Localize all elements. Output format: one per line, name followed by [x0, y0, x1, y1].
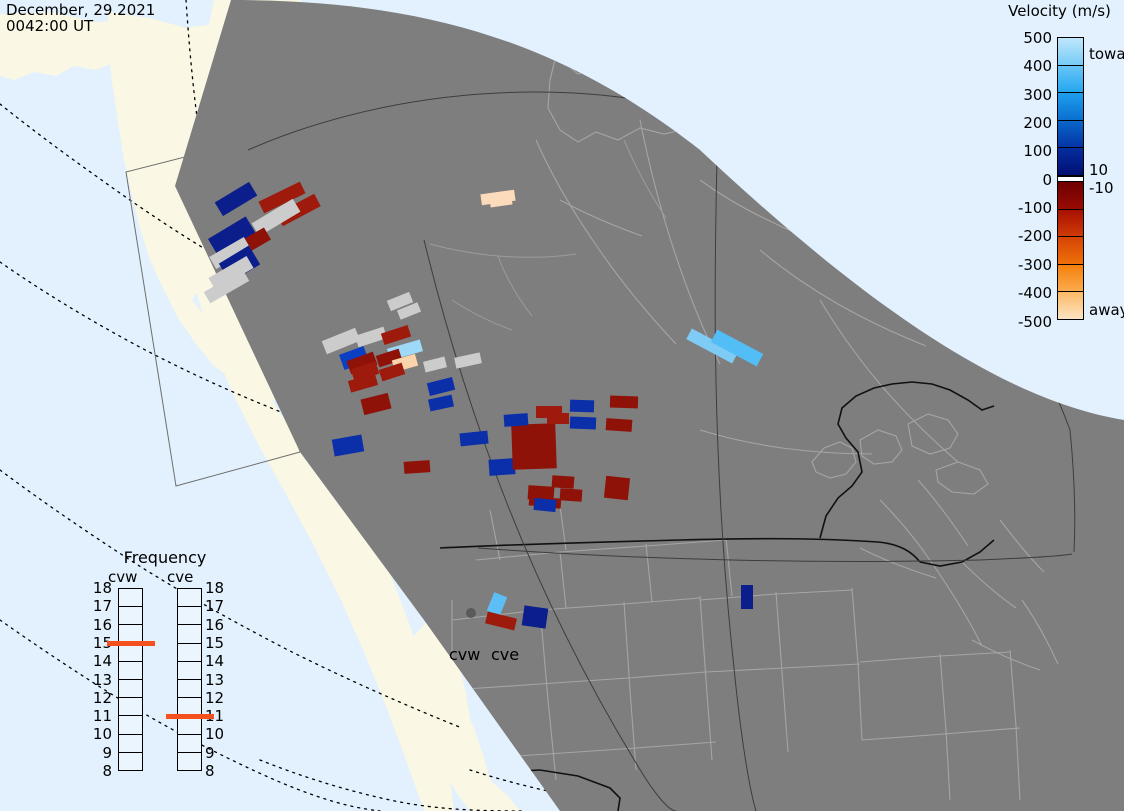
frequency-cell [119, 716, 142, 734]
frequency-tick-cvw-12: 12 [90, 691, 112, 705]
frequency-tick-cve-17: 17 [205, 599, 227, 613]
frequency-cell [178, 625, 201, 643]
colorbar-toward-label: toward [1089, 47, 1124, 62]
colorbar-inner-high-label: 10 [1089, 163, 1108, 178]
velocity-cell [570, 400, 594, 413]
colorbar-tick-200: 200 [1000, 116, 1052, 131]
timestamp-time: 0042:00 UT [6, 17, 93, 35]
colorbar-away-label: away [1089, 303, 1124, 318]
frequency-cell [178, 607, 201, 625]
frequency-marker-cve [166, 714, 214, 719]
velocity-cell [560, 488, 583, 502]
colorbar-tick-0: 0 [1000, 173, 1052, 188]
colorbar-segment-0 [1058, 38, 1083, 66]
velocity-cell [547, 413, 569, 424]
colorbar-tick-400: 400 [1000, 59, 1052, 74]
colorbar-segment-4 [1058, 148, 1083, 176]
colorbar-tick-300: 300 [1000, 88, 1052, 103]
velocity-cell [533, 498, 556, 512]
frequency-tick-cve-9: 9 [205, 746, 227, 760]
colorbar-tick-neg200: -200 [1000, 229, 1052, 244]
frequency-tick-cvw-11: 11 [90, 709, 112, 723]
frequency-tick-cve-18: 18 [205, 581, 227, 595]
frequency-legend-title: Frequency [85, 548, 245, 567]
colorbar-tick-neg300: -300 [1000, 258, 1052, 273]
frequency-scale-box-cvw[interactable] [118, 588, 143, 771]
frequency-tick-cve-15: 15 [205, 636, 227, 650]
radar-velocity-map-page: December, 29.20210042:00 UT Velocity (m/… [0, 0, 1124, 811]
colorbar-tick-neg100: -100 [1000, 201, 1052, 216]
frequency-tick-cve-16: 16 [205, 618, 227, 632]
colorbar-tick-neg400: -400 [1000, 286, 1052, 301]
frequency-tick-cvw-18: 18 [90, 581, 112, 595]
frequency-tick-cvw-14: 14 [90, 654, 112, 668]
frequency-tick-cve-12: 12 [205, 691, 227, 705]
velocity-cell [504, 413, 529, 427]
frequency-marker-cvw [107, 641, 155, 646]
frequency-tick-cvw-8: 8 [90, 764, 112, 778]
radar-site-label-cve: cve [491, 645, 519, 664]
colorbar-segment-2 [1058, 93, 1083, 121]
frequency-cell [119, 753, 142, 770]
frequency-cell [119, 644, 142, 662]
frequency-column-name-cvw: cvw [108, 568, 137, 586]
frequency-cell [178, 589, 201, 607]
frequency-column-name-cve: cve [167, 568, 193, 586]
frequency-tick-cvw-16: 16 [90, 618, 112, 632]
velocity-cell [522, 605, 549, 628]
velocity-cell [606, 418, 633, 432]
frequency-cell [178, 662, 201, 680]
colorbar-segment-9 [1058, 292, 1083, 319]
frequency-tick-cvw-13: 13 [90, 673, 112, 687]
frequency-tick-cve-14: 14 [205, 654, 227, 668]
frequency-tick-cvw-17: 17 [90, 599, 112, 613]
colorbar-tick-100: 100 [1000, 144, 1052, 159]
frequency-cell [178, 716, 201, 734]
colorbar-tick-500: 500 [1000, 31, 1052, 46]
velocity-cell [488, 458, 515, 476]
timestamp-block: December, 29.20210042:00 UT [6, 2, 155, 34]
frequency-cell [178, 735, 201, 753]
colorbar-gradient-strip [1057, 37, 1084, 320]
frequency-cell [119, 680, 142, 698]
frequency-cell [178, 644, 201, 662]
frequency-cell [119, 735, 142, 753]
colorbar-segment-3 [1058, 121, 1083, 149]
radar-site-marker [466, 608, 476, 618]
colorbar-segment-8 [1058, 265, 1083, 293]
frequency-cell [119, 589, 142, 607]
frequency-cell [178, 680, 201, 698]
frequency-cell [119, 698, 142, 716]
velocity-cell [610, 396, 638, 409]
velocity-cell [604, 476, 630, 500]
frequency-cell [178, 753, 201, 770]
colorbar-segment-5 [1058, 182, 1083, 210]
radar-site-label-cvw: cvw [449, 645, 480, 664]
velocity-cell [570, 417, 596, 430]
colorbar-title: Velocity (m/s) [995, 2, 1124, 20]
colorbar-inner-low-label: -10 [1089, 181, 1114, 196]
colorbar-segment-6 [1058, 210, 1083, 238]
velocity-cell [741, 585, 753, 609]
velocity-cell [552, 475, 575, 489]
frequency-tick-cvw-10: 10 [90, 727, 112, 741]
colorbar-tick-neg500: -500 [1000, 315, 1052, 330]
frequency-tick-cve-8: 8 [205, 764, 227, 778]
frequency-cell [119, 662, 142, 680]
velocity-cell [511, 423, 557, 470]
frequency-cell [119, 607, 142, 625]
frequency-tick-cve-13: 13 [205, 673, 227, 687]
velocity-cell [404, 460, 431, 474]
frequency-tick-cvw-9: 9 [90, 746, 112, 760]
colorbar-segment-1 [1058, 66, 1083, 94]
frequency-tick-cve-10: 10 [205, 727, 227, 741]
colorbar-segment-7 [1058, 237, 1083, 265]
frequency-scale-box-cve[interactable] [177, 588, 202, 771]
